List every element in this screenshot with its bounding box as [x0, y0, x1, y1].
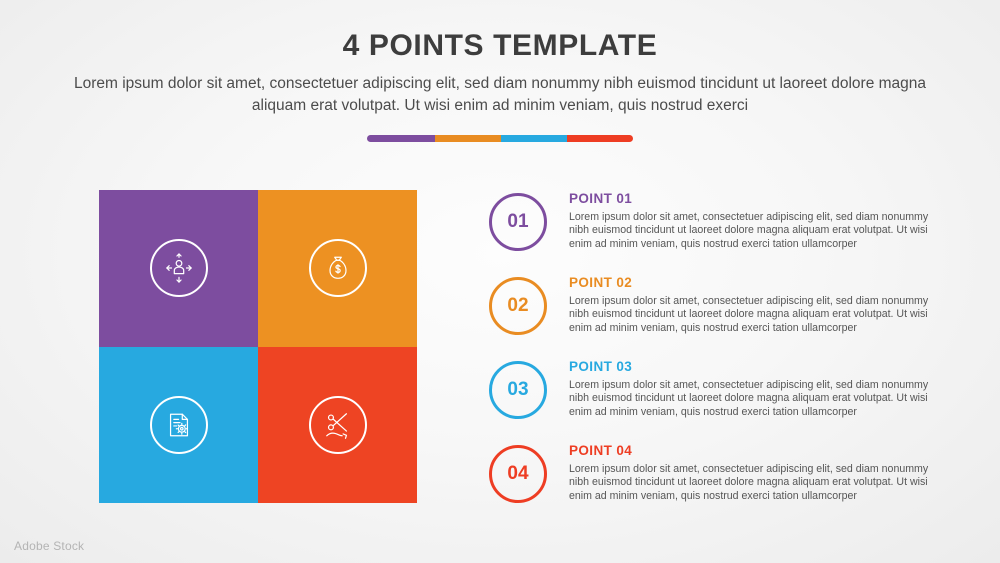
point-body: POINT 01 Lorem ipsum dolor sit amet, con… — [569, 191, 949, 251]
point-description: Lorem ipsum dolor sit amet, consectetuer… — [569, 211, 934, 251]
quadrant-1[interactable] — [99, 190, 258, 347]
point-number-badge: 01 — [489, 193, 547, 251]
quadrant-3[interactable] — [99, 347, 258, 504]
people-management-icon — [150, 239, 208, 297]
point-body: POINT 04 Lorem ipsum dolor sit amet, con… — [569, 443, 949, 503]
money-bag-icon — [309, 239, 367, 297]
point-title: POINT 04 — [569, 443, 949, 458]
point-title: POINT 02 — [569, 275, 949, 290]
point-description: Lorem ipsum dolor sit amet, consectetuer… — [569, 295, 934, 335]
accent-segment-1 — [367, 135, 435, 142]
accent-segment-2 — [435, 135, 501, 142]
list-item[interactable]: 02 POINT 02 Lorem ipsum dolor sit amet, … — [489, 275, 949, 344]
page-title: 4 POINTS TEMPLATE — [0, 29, 1000, 63]
point-description: Lorem ipsum dolor sit amet, consectetuer… — [569, 379, 934, 419]
point-body: POINT 02 Lorem ipsum dolor sit amet, con… — [569, 275, 949, 335]
list-item[interactable]: 04 POINT 04 Lorem ipsum dolor sit amet, … — [489, 443, 949, 512]
point-number-badge: 02 — [489, 277, 547, 335]
point-title: POINT 01 — [569, 191, 949, 206]
points-list: 01 POINT 01 Lorem ipsum dolor sit amet, … — [489, 191, 949, 527]
quadrant-4[interactable] — [258, 347, 417, 504]
point-number-badge: 04 — [489, 445, 547, 503]
accent-bar — [367, 135, 633, 142]
quadrant-2[interactable] — [258, 190, 417, 347]
watermark-adobe-stock: Adobe Stock — [14, 539, 84, 553]
point-description: Lorem ipsum dolor sit amet, consectetuer… — [569, 463, 934, 503]
list-item[interactable]: 03 POINT 03 Lorem ipsum dolor sit amet, … — [489, 359, 949, 428]
infographic-canvas: #677374910 Adobe Stock 4 POINTS TEMPLATE… — [0, 0, 1000, 563]
document-settings-icon — [150, 396, 208, 454]
point-number-badge: 03 — [489, 361, 547, 419]
point-body: POINT 03 Lorem ipsum dolor sit amet, con… — [569, 359, 949, 419]
watermark-image-id: #677374910 — [0, 305, 2, 374]
page-subtitle: Lorem ipsum dolor sit amet, consectetuer… — [72, 73, 928, 117]
cut-price-icon — [309, 396, 367, 454]
accent-segment-4 — [567, 135, 633, 142]
accent-segment-3 — [501, 135, 567, 142]
list-item[interactable]: 01 POINT 01 Lorem ipsum dolor sit amet, … — [489, 191, 949, 260]
point-title: POINT 03 — [569, 359, 949, 374]
quadrant-graphic — [99, 190, 417, 503]
